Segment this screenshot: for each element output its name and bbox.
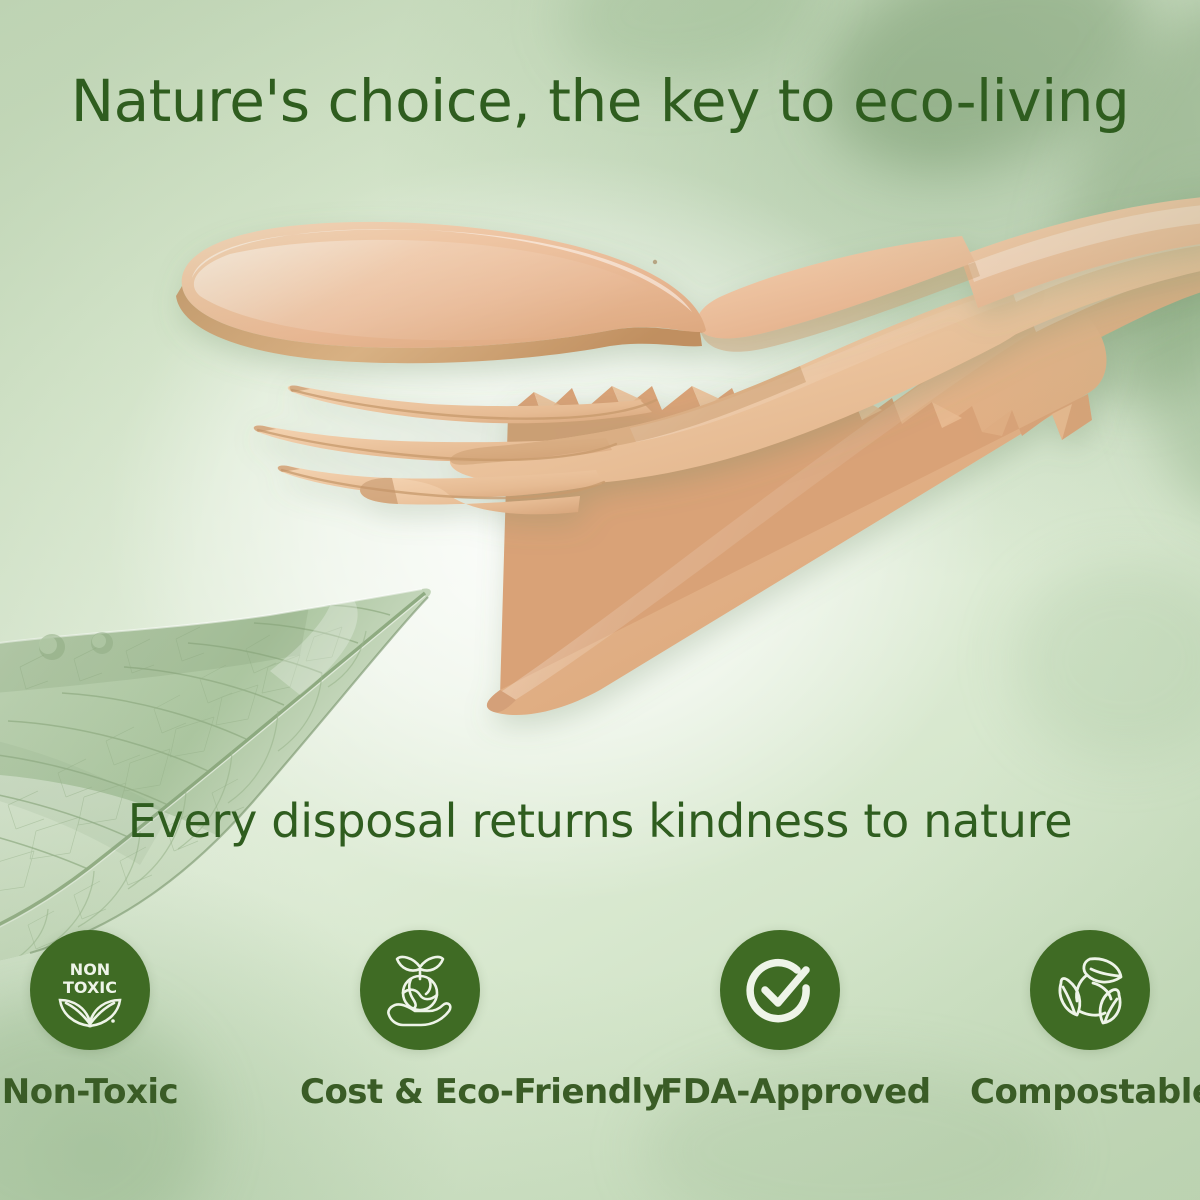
- background-blur-shape: [1118, 180, 1200, 529]
- feature-badge-compostable[interactable]: Compostable: [970, 930, 1200, 1112]
- background-blur-shape: [1010, 560, 1200, 760]
- non-toxic-leaves-icon: NON TOXIC: [44, 944, 136, 1036]
- hand-holding-globe-sprout-icon: [377, 947, 463, 1033]
- knife: [487, 240, 1200, 715]
- badge-text-toxic: TOXIC: [63, 978, 117, 997]
- badge-circle: [1030, 930, 1150, 1050]
- spoon: [176, 196, 1200, 363]
- badge-label: FDA-Approved: [660, 1072, 900, 1112]
- check-circle-icon: [740, 950, 820, 1030]
- feature-badge-cost-eco-friendly[interactable]: Cost & Eco-Friendly: [300, 930, 540, 1112]
- page-title: Nature's choice, the key to eco-living: [0, 72, 1200, 130]
- badge-circle: [720, 930, 840, 1050]
- badge-label: Cost & Eco-Friendly: [300, 1072, 540, 1112]
- promo-banner: Nature's choice, the key to eco-living E…: [0, 0, 1200, 1200]
- feature-badge-row: NON TOXIC Non-Toxic: [0, 930, 1200, 1200]
- badge-circle: [360, 930, 480, 1050]
- badge-circle: NON TOXIC: [30, 930, 150, 1050]
- fork: [254, 218, 1200, 514]
- badge-label: Non-Toxic: [0, 1072, 210, 1112]
- feature-badge-non-toxic[interactable]: NON TOXIC Non-Toxic: [0, 930, 210, 1112]
- badge-label: Compostable: [970, 1072, 1200, 1112]
- feature-badge-fda-approved[interactable]: FDA-Approved: [660, 930, 900, 1112]
- background-blur-shape: [1021, 0, 1200, 431]
- badge-text-non: NON: [70, 960, 110, 979]
- tagline: Every disposal returns kindness to natur…: [0, 798, 1200, 844]
- leaf-illustration: [0, 575, 490, 965]
- three-leaves-recycle-icon: [1049, 949, 1131, 1031]
